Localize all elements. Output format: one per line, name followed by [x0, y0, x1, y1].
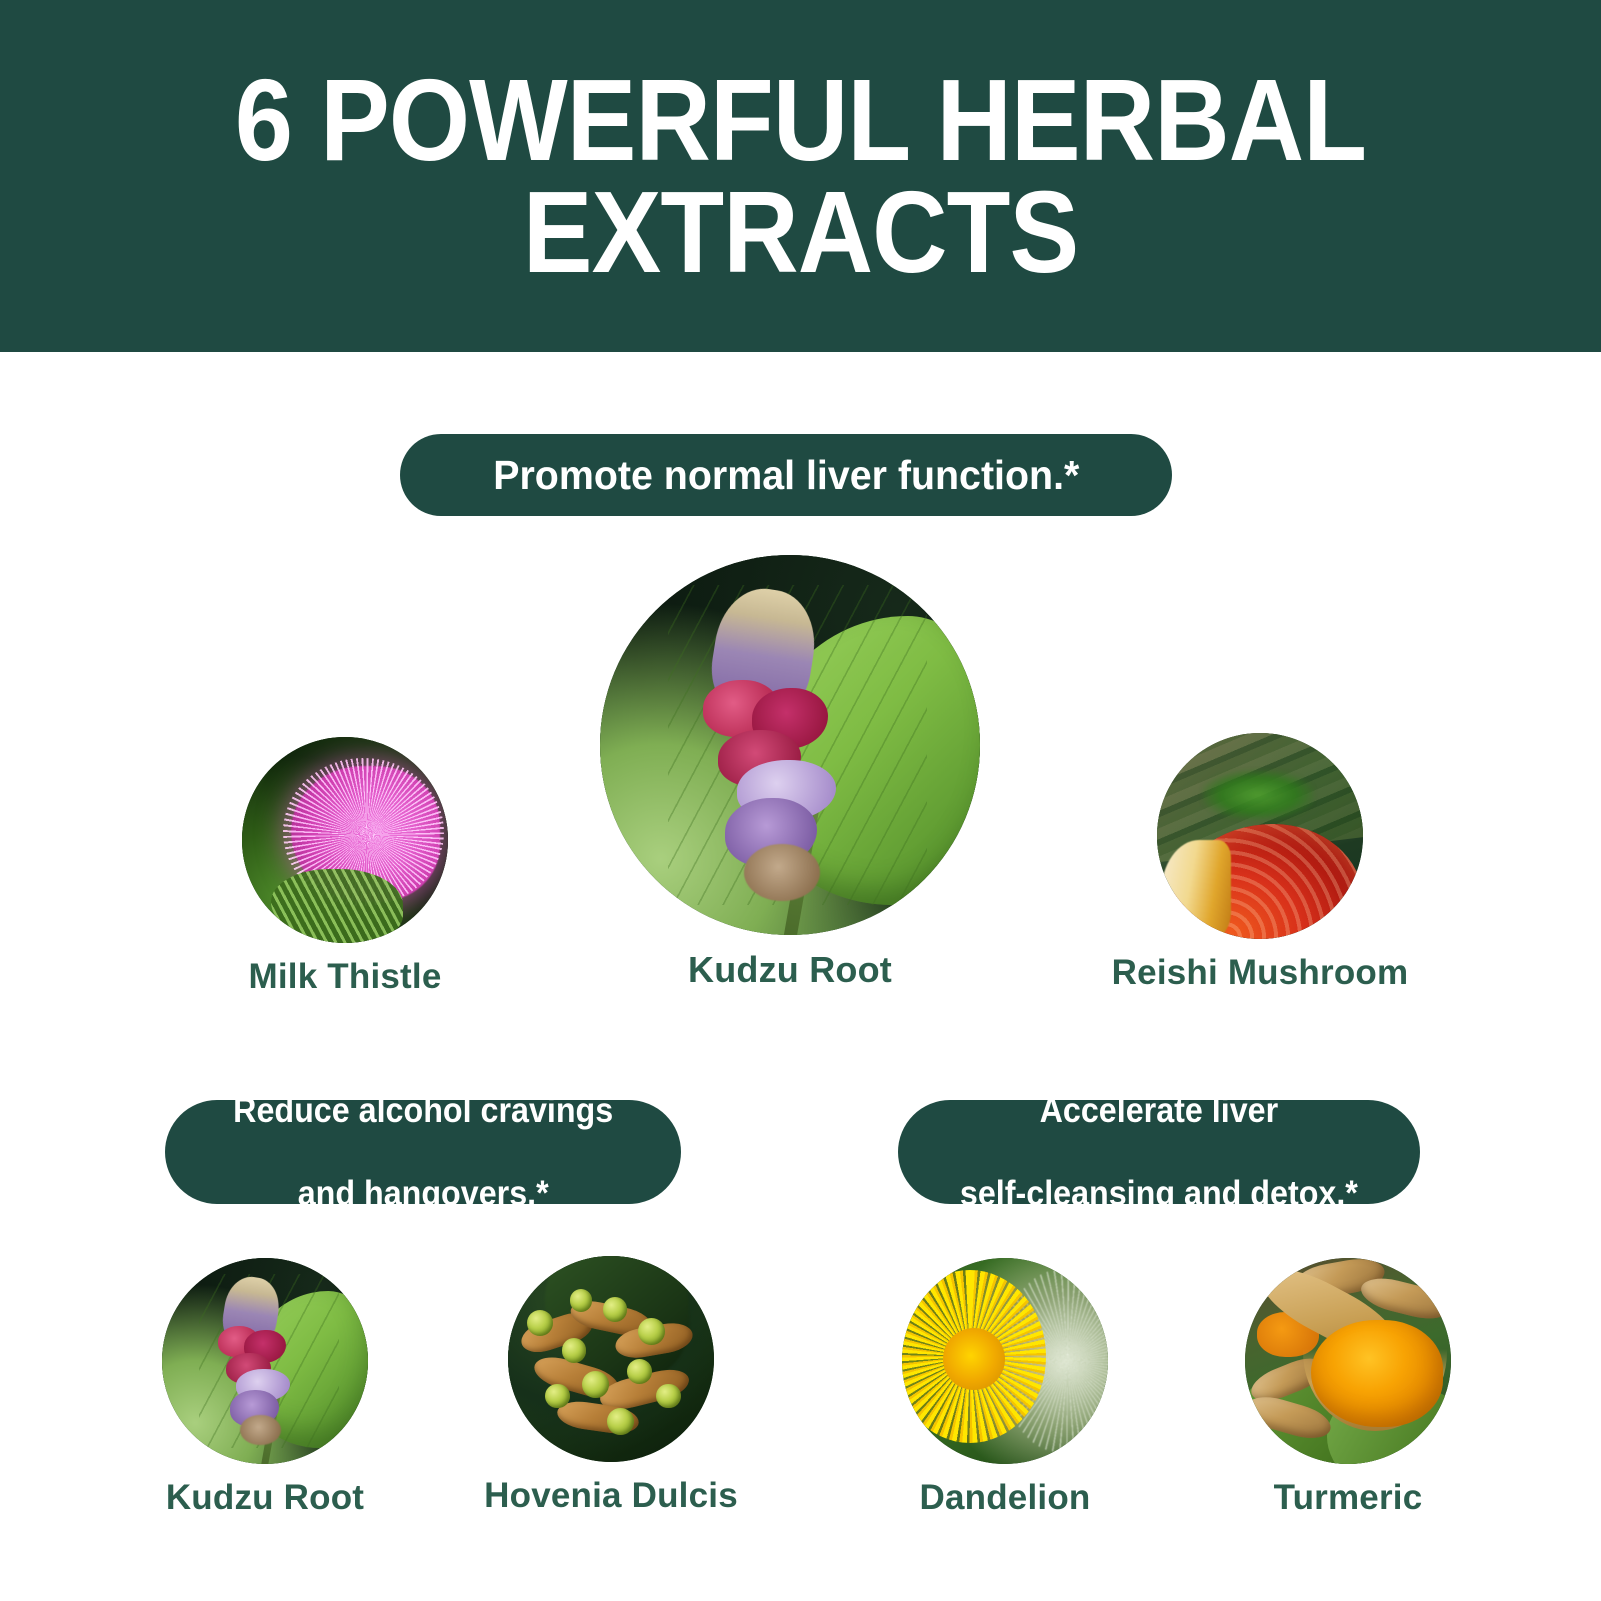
header-banner: 6 POWERFUL HERBAL EXTRACTS [0, 0, 1601, 352]
hovenia-dulcis-image [508, 1256, 714, 1462]
ingredient-milk-thistle: Milk Thistle [141, 737, 549, 997]
reishi-mushroom-image [1157, 733, 1363, 939]
benefit-badge-liver-function: Promote normal liver function.* [400, 434, 1172, 516]
ingredient-reishi-mushroom: Reishi Mushroom [1055, 733, 1465, 993]
ingredient-label-reishi-mushroom: Reishi Mushroom [1112, 953, 1409, 993]
ingredient-label-milk-thistle: Milk Thistle [249, 957, 442, 997]
milk-thistle-image [242, 737, 448, 943]
kudzu-root-image-small [162, 1258, 368, 1464]
benefit-badge-liver-function-text: Promote normal liver function.* [493, 451, 1079, 499]
ingredient-label-hovenia-dulcis: Hovenia Dulcis [484, 1476, 738, 1516]
ingredient-turmeric: Turmeric [1143, 1258, 1553, 1518]
benefit-badge-alcohol-cravings-text: Reduce alcohol cravings and hangovers.* [225, 1090, 621, 1214]
page-title-line-2: EXTRACTS [523, 176, 1078, 288]
ingredient-hovenia-dulcis: Hovenia Dulcis [406, 1256, 816, 1516]
turmeric-image [1245, 1258, 1451, 1464]
badge-line-1: Reduce alcohol cravings [233, 1090, 613, 1131]
page-title-line-1: 6 POWERFUL HERBAL [235, 64, 1366, 176]
ingredient-label-kudzu-root-primary: Kudzu Root [688, 949, 892, 991]
benefit-badge-alcohol-cravings: Reduce alcohol cravings and hangovers.* [165, 1100, 681, 1204]
kudzu-root-image-large [600, 555, 980, 935]
badge-line-1: Accelerate liver [960, 1090, 1358, 1131]
badge-line-2: self-cleansing and detox.* [960, 1173, 1358, 1214]
ingredient-kudzu-root-primary: Kudzu Root [600, 555, 980, 991]
benefit-badge-detox: Accelerate liver self-cleansing and deto… [898, 1100, 1420, 1204]
badge-line-2: and hangovers.* [233, 1173, 613, 1214]
ingredient-label-dandelion: Dandelion [920, 1478, 1091, 1518]
ingredient-label-turmeric: Turmeric [1274, 1478, 1423, 1518]
ingredient-label-kudzu-root-secondary: Kudzu Root [166, 1478, 364, 1518]
benefit-badge-detox-text: Accelerate liver self-cleansing and deto… [952, 1090, 1367, 1214]
dandelion-image [902, 1258, 1108, 1464]
